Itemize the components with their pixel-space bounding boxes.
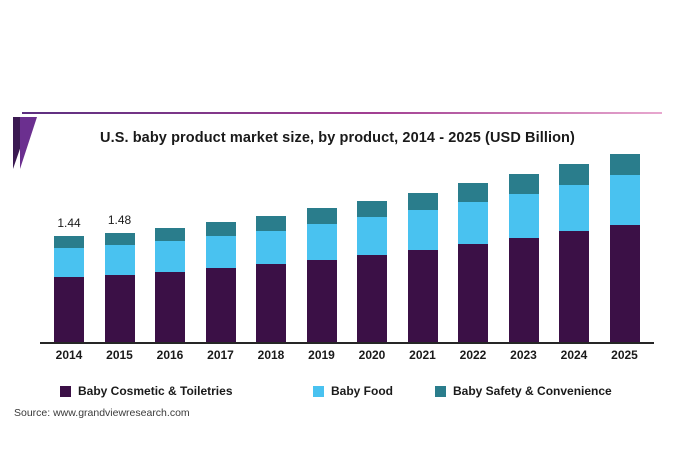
bar-segment-2020-2	[357, 201, 387, 217]
bar-segment-2014-1	[54, 248, 84, 277]
source-note: Source: www.grandviewresearch.com	[14, 407, 190, 419]
chart-page: U.S. baby product market size, by produc…	[0, 0, 684, 474]
legend-label-0: Baby Cosmetic & Toiletries	[78, 384, 233, 398]
legend-item-0[interactable]: Baby Cosmetic & Toiletries	[60, 382, 233, 400]
bar-2021[interactable]	[408, 193, 438, 342]
bar-segment-2020-1	[357, 217, 387, 255]
legend-swatch-icon-2	[435, 386, 446, 397]
bar-2014[interactable]: 1.44	[54, 236, 84, 342]
chart-header: U.S. baby product market size, by produc…	[0, 55, 684, 117]
x-axis-line	[40, 342, 654, 344]
bar-segment-2025-1	[610, 175, 640, 224]
legend-item-1[interactable]: Baby Food	[313, 382, 393, 400]
bar-segment-2019-2	[307, 208, 337, 224]
bar-segment-2025-0	[610, 225, 640, 342]
bar-segment-2024-1	[559, 185, 589, 232]
legend-swatch-icon-0	[60, 386, 71, 397]
bar-segment-2018-0	[256, 264, 286, 342]
x-tick-2025: 2025	[595, 348, 655, 362]
bar-segment-2016-2	[155, 228, 185, 241]
bar-2023[interactable]	[509, 174, 539, 342]
bar-segment-2021-0	[408, 250, 438, 342]
bar-segment-2021-1	[408, 210, 438, 250]
bar-2025[interactable]	[610, 154, 640, 342]
bar-segment-2021-2	[408, 193, 438, 210]
bar-segment-2022-0	[458, 244, 488, 342]
bar-segment-2015-2	[105, 233, 135, 246]
bottom-accent	[0, 468, 684, 474]
bar-2016[interactable]	[155, 228, 185, 342]
bar-segment-2014-2	[54, 236, 84, 249]
grandview-logo-icon	[13, 117, 39, 169]
bar-segment-2025-2	[610, 154, 640, 175]
legend-label-1: Baby Food	[331, 384, 393, 398]
bar-segment-2020-0	[357, 255, 387, 342]
bar-segment-2024-2	[559, 164, 589, 185]
bar-2015[interactable]: 1.48	[105, 233, 135, 342]
bar-2022[interactable]	[458, 183, 488, 342]
bar-segment-2018-1	[256, 231, 286, 265]
bar-segment-2016-1	[155, 241, 185, 272]
legend-item-2[interactable]: Baby Safety & Convenience	[435, 382, 612, 400]
bar-segment-2017-2	[206, 222, 236, 236]
bar-2024[interactable]	[559, 164, 589, 342]
bar-segment-2023-2	[509, 174, 539, 193]
bar-segment-2015-0	[105, 275, 135, 342]
bar-value-label-2015: 1.48	[90, 213, 150, 227]
bar-segment-2019-0	[307, 260, 337, 342]
bar-2020[interactable]	[357, 201, 387, 342]
bar-segment-2014-0	[54, 277, 84, 342]
bar-segment-2022-2	[458, 183, 488, 201]
page-title: U.S. baby product market size, by produc…	[100, 129, 660, 147]
legend-swatch-icon-1	[313, 386, 324, 397]
bar-segment-2019-1	[307, 224, 337, 260]
bar-segment-2017-0	[206, 268, 236, 342]
bar-2017[interactable]	[206, 222, 236, 342]
chart-plot-area: 1.441.48	[40, 150, 652, 342]
bar-segment-2018-2	[256, 216, 286, 231]
legend-label-2: Baby Safety & Convenience	[453, 384, 612, 398]
chart-legend: Baby Cosmetic & ToiletriesBaby FoodBaby …	[60, 382, 640, 400]
bar-segment-2016-0	[155, 272, 185, 342]
bar-segment-2022-1	[458, 202, 488, 244]
bar-2018[interactable]	[256, 216, 286, 342]
bar-segment-2017-1	[206, 236, 236, 268]
bar-segment-2023-0	[509, 238, 539, 342]
header-divider	[22, 112, 662, 114]
bar-segment-2023-1	[509, 194, 539, 238]
bar-2019[interactable]	[307, 208, 337, 342]
bar-segment-2015-1	[105, 245, 135, 275]
bar-segment-2024-0	[559, 231, 589, 342]
